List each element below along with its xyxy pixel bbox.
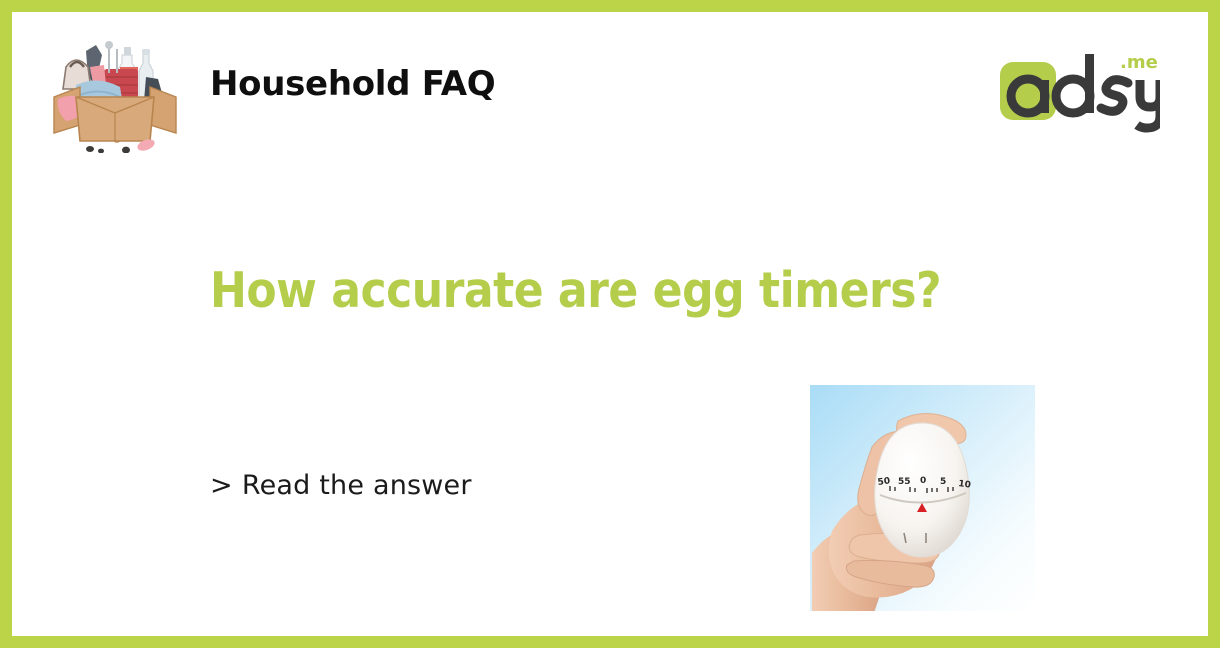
page-card: Household FAQ xyxy=(0,0,1220,648)
egg-timer-photo: 50 55 0 5 10 xyxy=(810,385,1035,611)
svg-text:50: 50 xyxy=(877,476,891,488)
adsy-logo[interactable]: .me xyxy=(1000,50,1160,134)
read-the-answer-label: Read the answer xyxy=(242,470,472,501)
svg-text:5: 5 xyxy=(940,477,946,487)
svg-text:55: 55 xyxy=(898,477,911,487)
page-title: Household FAQ xyxy=(210,64,495,104)
svg-text:0: 0 xyxy=(920,476,926,486)
chevron-right-icon: > xyxy=(210,470,233,501)
svg-text:.me: .me xyxy=(1120,52,1158,73)
svg-text:10: 10 xyxy=(958,479,972,491)
cardboard-box-icon xyxy=(50,25,180,153)
read-the-answer-link[interactable]: >Read the answer xyxy=(210,470,472,501)
question-heading: How accurate are egg timers? xyxy=(210,264,1110,318)
site-header: Household FAQ xyxy=(12,12,1208,162)
